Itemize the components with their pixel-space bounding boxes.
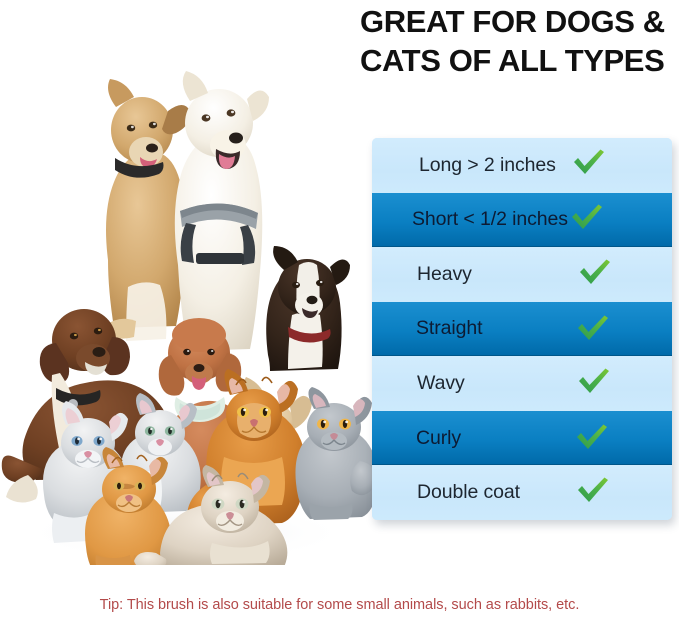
feature-row-wavy[interactable]: Wavy — [372, 356, 672, 411]
feature-label: Long > 2 inches — [419, 154, 556, 177]
feature-label: Wavy — [417, 372, 465, 395]
tip-text: Tip: This brush is also suitable for som… — [0, 597, 679, 613]
page-title: GREAT FOR DOGS & CATS OF ALL TYPES — [360, 2, 676, 80]
feature-row-straight[interactable]: Straight — [372, 302, 672, 357]
feature-label: Short < 1/2 inches — [412, 208, 568, 231]
white-labrador-with-harness-dog — [175, 71, 269, 351]
dogs-and-cats-photo — [0, 55, 372, 565]
feature-row-short[interactable]: Short < 1/2 inches — [372, 193, 672, 248]
feature-row-heavy[interactable]: Heavy — [372, 247, 672, 302]
border-collie-dog — [266, 246, 350, 371]
feature-label: Heavy — [417, 263, 472, 286]
green-checkmark-icon — [575, 422, 609, 452]
feature-row-double-coat[interactable]: Double coat — [372, 465, 672, 520]
green-checkmark-icon — [576, 313, 610, 343]
feature-row-long[interactable]: Long > 2 inches — [372, 138, 672, 193]
feature-label: Straight — [416, 317, 482, 340]
green-checkmark-icon — [578, 257, 612, 287]
green-checkmark-icon — [570, 202, 604, 232]
poster-canvas: GREAT FOR DOGS & CATS OF ALL TYPES — [0, 0, 679, 627]
green-checkmark-icon — [577, 366, 611, 396]
feature-label: Curly — [416, 427, 461, 450]
green-checkmark-icon — [572, 147, 606, 177]
feature-row-curly[interactable]: Curly — [372, 411, 672, 466]
feature-label: Double coat — [417, 481, 520, 504]
green-checkmark-icon — [576, 475, 610, 505]
coat-type-feature-list: Long > 2 inches Short < 1/2 inches — [372, 138, 672, 520]
